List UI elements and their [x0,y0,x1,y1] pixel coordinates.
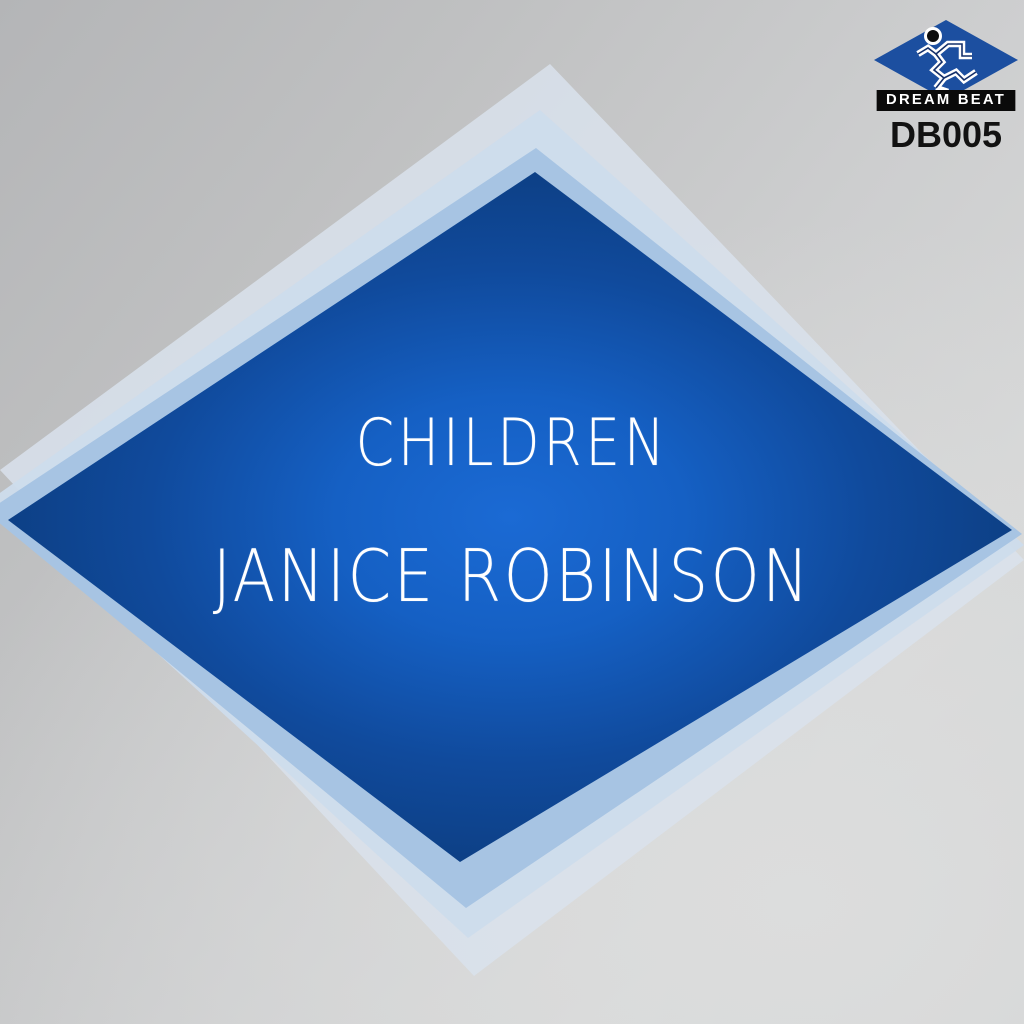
album-cover: CHILDREN JANICE ROBINSON [0,0,1024,1024]
diamond-stack [0,0,1024,1024]
label-wordmark: DREAM BEAT [877,90,1016,111]
record-label-logo: DREAM BEAT DB005 [872,18,1020,164]
catalog-number: DB005 [872,114,1020,156]
diamond-core-dark [8,172,1012,862]
